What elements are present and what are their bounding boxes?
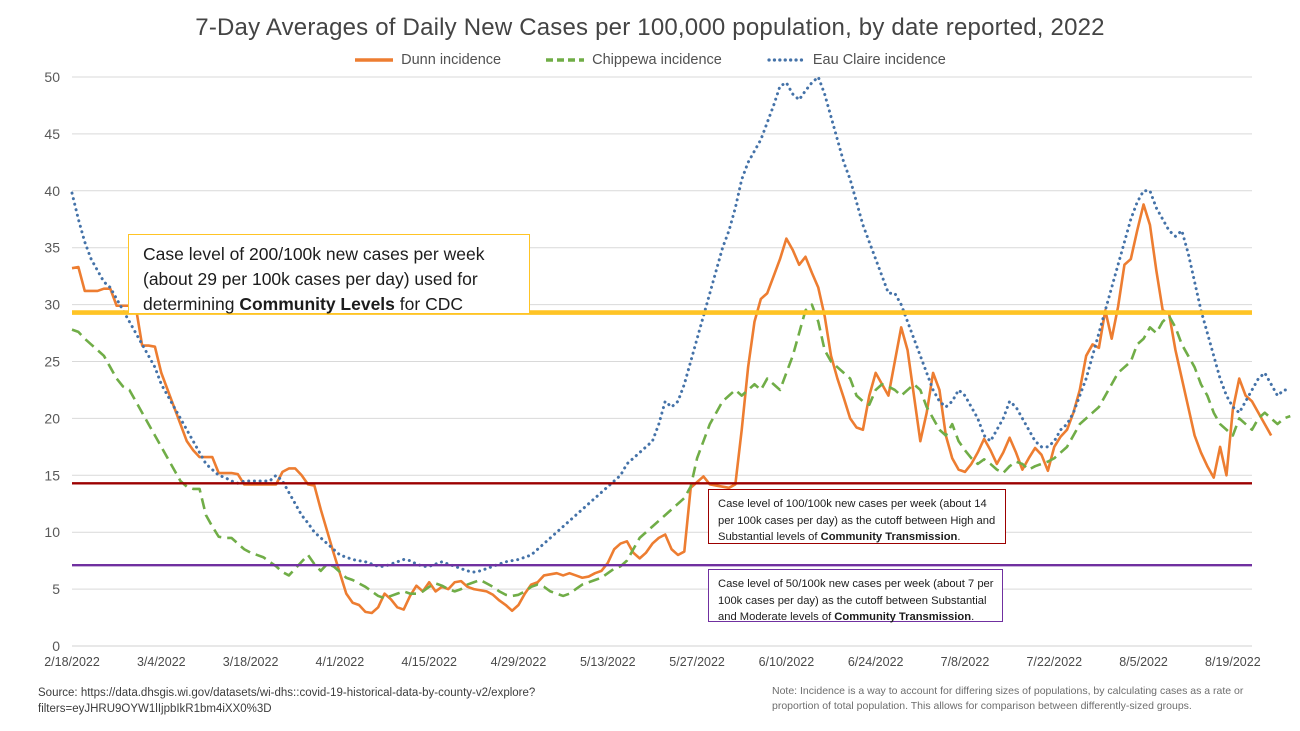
annotation-yellow-line2: (about 29 per 100k cases per day) used f…	[143, 267, 529, 292]
annotation-substantial-moderate: Case level of 50/100k new cases per week…	[708, 569, 1003, 622]
x-axis-tick-label: 7/22/2022	[1026, 655, 1082, 669]
y-axis-tick-label: 0	[52, 638, 60, 654]
x-axis-tick-label: 4/15/2022	[401, 655, 457, 669]
chart-container: 7-Day Averages of Daily New Cases per 10…	[0, 0, 1300, 731]
plot-area: 051015202530354045502/18/20223/4/20223/1…	[0, 0, 1300, 731]
annotation-yellow-line3-post: for CDC	[395, 294, 463, 314]
annotation-yellow-line3: determining Community Levels for CDC	[143, 292, 529, 317]
y-axis-tick-label: 5	[52, 581, 60, 597]
footer-source: Source: https://data.dhsgis.wi.gov/datas…	[38, 685, 758, 717]
y-axis-tick-label: 40	[44, 183, 60, 199]
y-axis-tick-label: 30	[44, 297, 60, 313]
annotation-purple-bold: Community Transmission	[834, 611, 971, 623]
footer-note: Note: Incidence is a way to account for …	[772, 684, 1262, 713]
annotation-red-bold: Community Transmission	[821, 531, 958, 543]
x-axis-tick-label: 7/8/2022	[941, 655, 990, 669]
y-axis-tick-label: 10	[44, 524, 60, 540]
annotation-yellow-line3-bold: Community Levels	[239, 294, 395, 314]
x-axis-tick-label: 6/10/2022	[759, 655, 815, 669]
x-axis-tick-label: 8/5/2022	[1119, 655, 1168, 669]
y-axis-tick-label: 15	[44, 467, 60, 483]
annotation-red-post: .	[957, 531, 960, 543]
x-axis-tick-label: 5/13/2022	[580, 655, 636, 669]
y-axis-tick-label: 25	[44, 354, 60, 370]
y-axis-tick-label: 20	[44, 410, 60, 426]
x-axis-tick-label: 5/27/2022	[669, 655, 725, 669]
annotation-high-substantial: Case level of 100/100k new cases per wee…	[708, 489, 1006, 544]
x-axis-tick-label: 3/4/2022	[137, 655, 186, 669]
annotation-purple-post: .	[971, 611, 974, 623]
x-axis-tick-label: 3/18/2022	[223, 655, 279, 669]
y-axis-tick-label: 35	[44, 240, 60, 256]
x-axis-tick-label: 4/29/2022	[491, 655, 547, 669]
annotation-yellow-line3-pre: determining	[143, 294, 239, 314]
annotation-yellow-line1: Case level of 200/100k new cases per wee…	[143, 242, 529, 267]
x-axis-tick-label: 2/18/2022	[44, 655, 100, 669]
x-axis-tick-label: 4/1/2022	[316, 655, 365, 669]
y-axis-tick-label: 50	[44, 69, 60, 85]
annotation-community-levels: Case level of 200/100k new cases per wee…	[128, 234, 530, 314]
y-axis-tick-label: 45	[44, 126, 60, 142]
x-axis-tick-label: 6/24/2022	[848, 655, 904, 669]
x-axis-tick-label: 8/19/2022	[1205, 655, 1261, 669]
